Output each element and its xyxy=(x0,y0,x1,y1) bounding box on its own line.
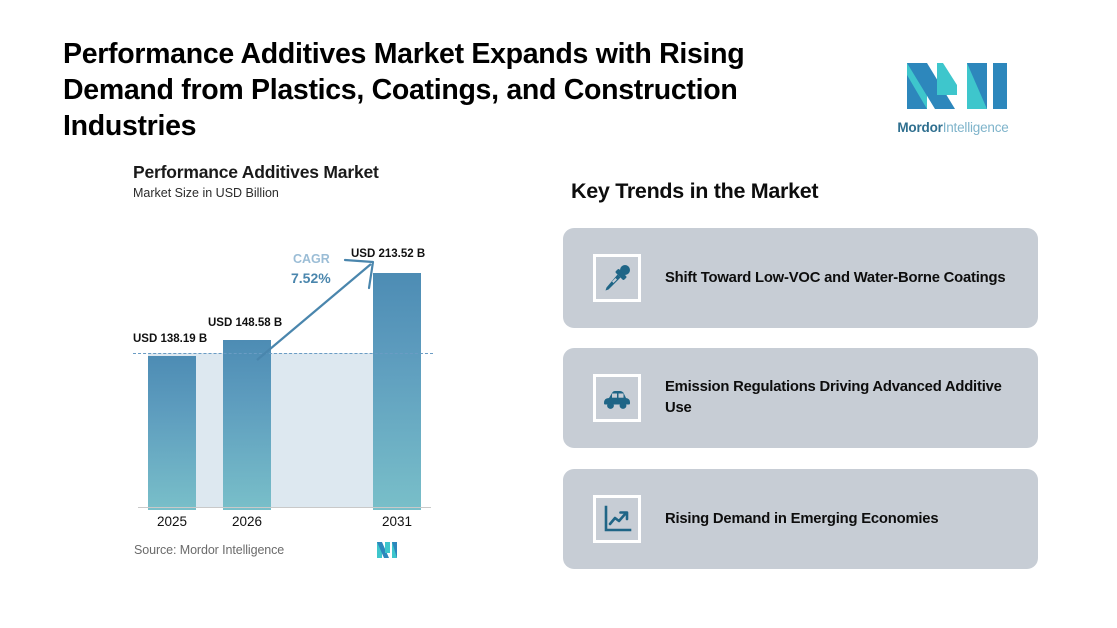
trend-card-label: Shift Toward Low-VOC and Water-Borne Coa… xyxy=(665,268,1005,289)
bar-2025 xyxy=(148,356,196,510)
cagr-arrow-icon xyxy=(253,252,383,364)
x-tick-2031: 2031 xyxy=(367,514,427,529)
key-trends-panel: Key Trends in the Market Shift Toward Lo… xyxy=(563,0,1117,628)
bar-value-2031: USD 213.52 B xyxy=(351,248,425,260)
cagr-label: CAGR xyxy=(293,252,330,266)
chart-subtitle: Market Size in USD Billion xyxy=(133,186,279,200)
mordor-intelligence-mark-icon xyxy=(376,541,400,559)
x-tick-2026: 2026 xyxy=(217,514,277,529)
bar-2026 xyxy=(223,340,271,510)
bar-chart-plot: CAGR 7.52% USD 138.19 B USD 148.58 B USD… xyxy=(133,230,433,510)
trend-card[interactable]: Rising Demand in Emerging Economies xyxy=(563,469,1038,569)
eyedropper-icon xyxy=(593,254,641,302)
trend-card[interactable]: Emission Regulations Driving Advanced Ad… xyxy=(563,348,1038,448)
x-tick-2025: 2025 xyxy=(142,514,202,529)
x-axis-line xyxy=(138,507,431,508)
chart-panel: Performance Additives Market Market Size… xyxy=(0,0,560,628)
trend-card-label: Rising Demand in Emerging Economies xyxy=(665,509,938,530)
chart-source-label: Source: Mordor Intelligence xyxy=(134,543,284,557)
line-chart-growth-icon xyxy=(593,495,641,543)
key-trends-heading: Key Trends in the Market xyxy=(571,179,818,204)
trend-card[interactable]: Shift Toward Low-VOC and Water-Borne Coa… xyxy=(563,228,1038,328)
car-icon xyxy=(593,374,641,422)
bar-value-2026: USD 148.58 B xyxy=(208,317,282,329)
bar-value-2025: USD 138.19 B xyxy=(133,333,207,345)
cagr-value: 7.52% xyxy=(291,270,331,286)
trend-card-label: Emission Regulations Driving Advanced Ad… xyxy=(665,377,1018,419)
chart-title: Performance Additives Market xyxy=(133,162,379,183)
